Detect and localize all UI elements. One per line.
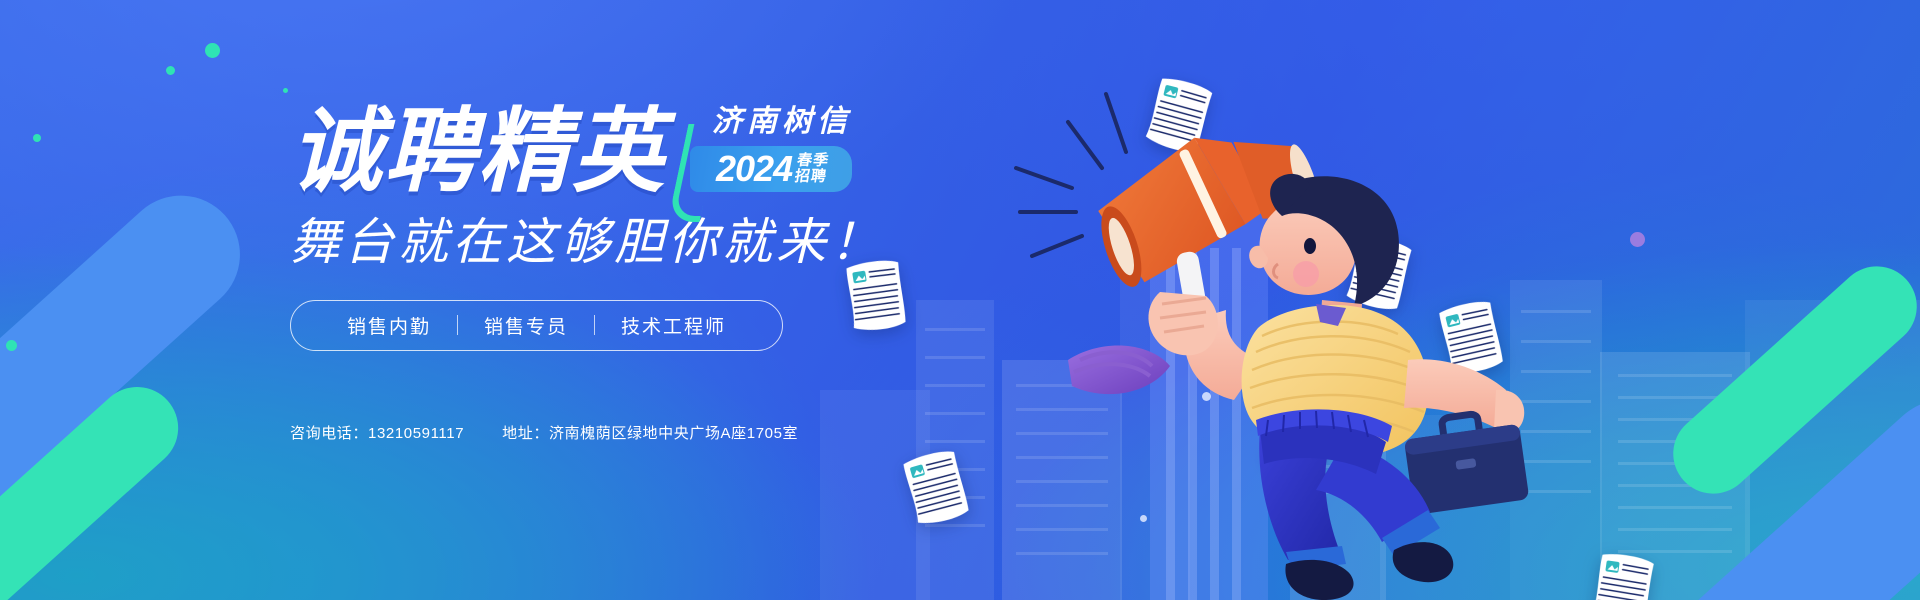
cheek (1293, 261, 1319, 287)
job-item-2[interactable]: 销售专员 (458, 312, 594, 339)
teal-dot-left (33, 134, 41, 142)
badge-season-line1: 春季 (796, 153, 830, 169)
resume-paper-bottom (896, 443, 978, 532)
job-positions-pill: 销售内勤 销售专员 技术工程师 (290, 300, 783, 351)
subtitle: 舞台就在这够胆你就来！ (290, 214, 990, 272)
badge-season-line2: 招聘 (794, 169, 828, 185)
teal-dot-mid (166, 66, 175, 75)
back-shoe (1068, 346, 1170, 395)
contact-address: 地址：济南槐荫区绿地中央广场A座1705室 (502, 422, 798, 443)
back-shoe-dark (1393, 542, 1454, 582)
recruitment-badge: 2024 春季 招聘 (690, 146, 852, 192)
purple-dot (1630, 232, 1645, 247)
job-item-3[interactable]: 技术工程师 (595, 312, 752, 339)
teal-dot-edge (6, 340, 17, 351)
page-title: 诚聘精英 (290, 106, 666, 198)
fist (1148, 292, 1217, 355)
recruitment-banner: 诚聘精英 济南树信 2024 春季 招聘 舞台就在这够胆你就来！ 销售内勤 销售… (0, 0, 1920, 600)
teal-dot-small (283, 88, 288, 93)
hero-illustration (1010, 60, 1530, 600)
badge-season: 春季 招聘 (794, 153, 830, 185)
job-item-1[interactable]: 销售内勤 (321, 312, 457, 339)
headline-row: 诚聘精英 济南树信 2024 春季 招聘 (290, 96, 990, 198)
brand-badge-group: 济南树信 2024 春季 招聘 (690, 96, 852, 198)
teal-dot-large (205, 43, 220, 58)
eye (1304, 238, 1316, 254)
banner-copy: 诚聘精英 济南树信 2024 春季 招聘 舞台就在这够胆你就来！ 销售内勤 销售… (290, 96, 990, 351)
badge-year: 2024 (716, 151, 792, 187)
resume-paper-far (1587, 548, 1661, 600)
contact-info: 咨询电话：13210591117 地址：济南槐荫区绿地中央广场A座1705室 (290, 422, 798, 443)
contact-phone: 咨询电话：13210591117 (290, 422, 464, 443)
front-shoe (1285, 560, 1353, 600)
